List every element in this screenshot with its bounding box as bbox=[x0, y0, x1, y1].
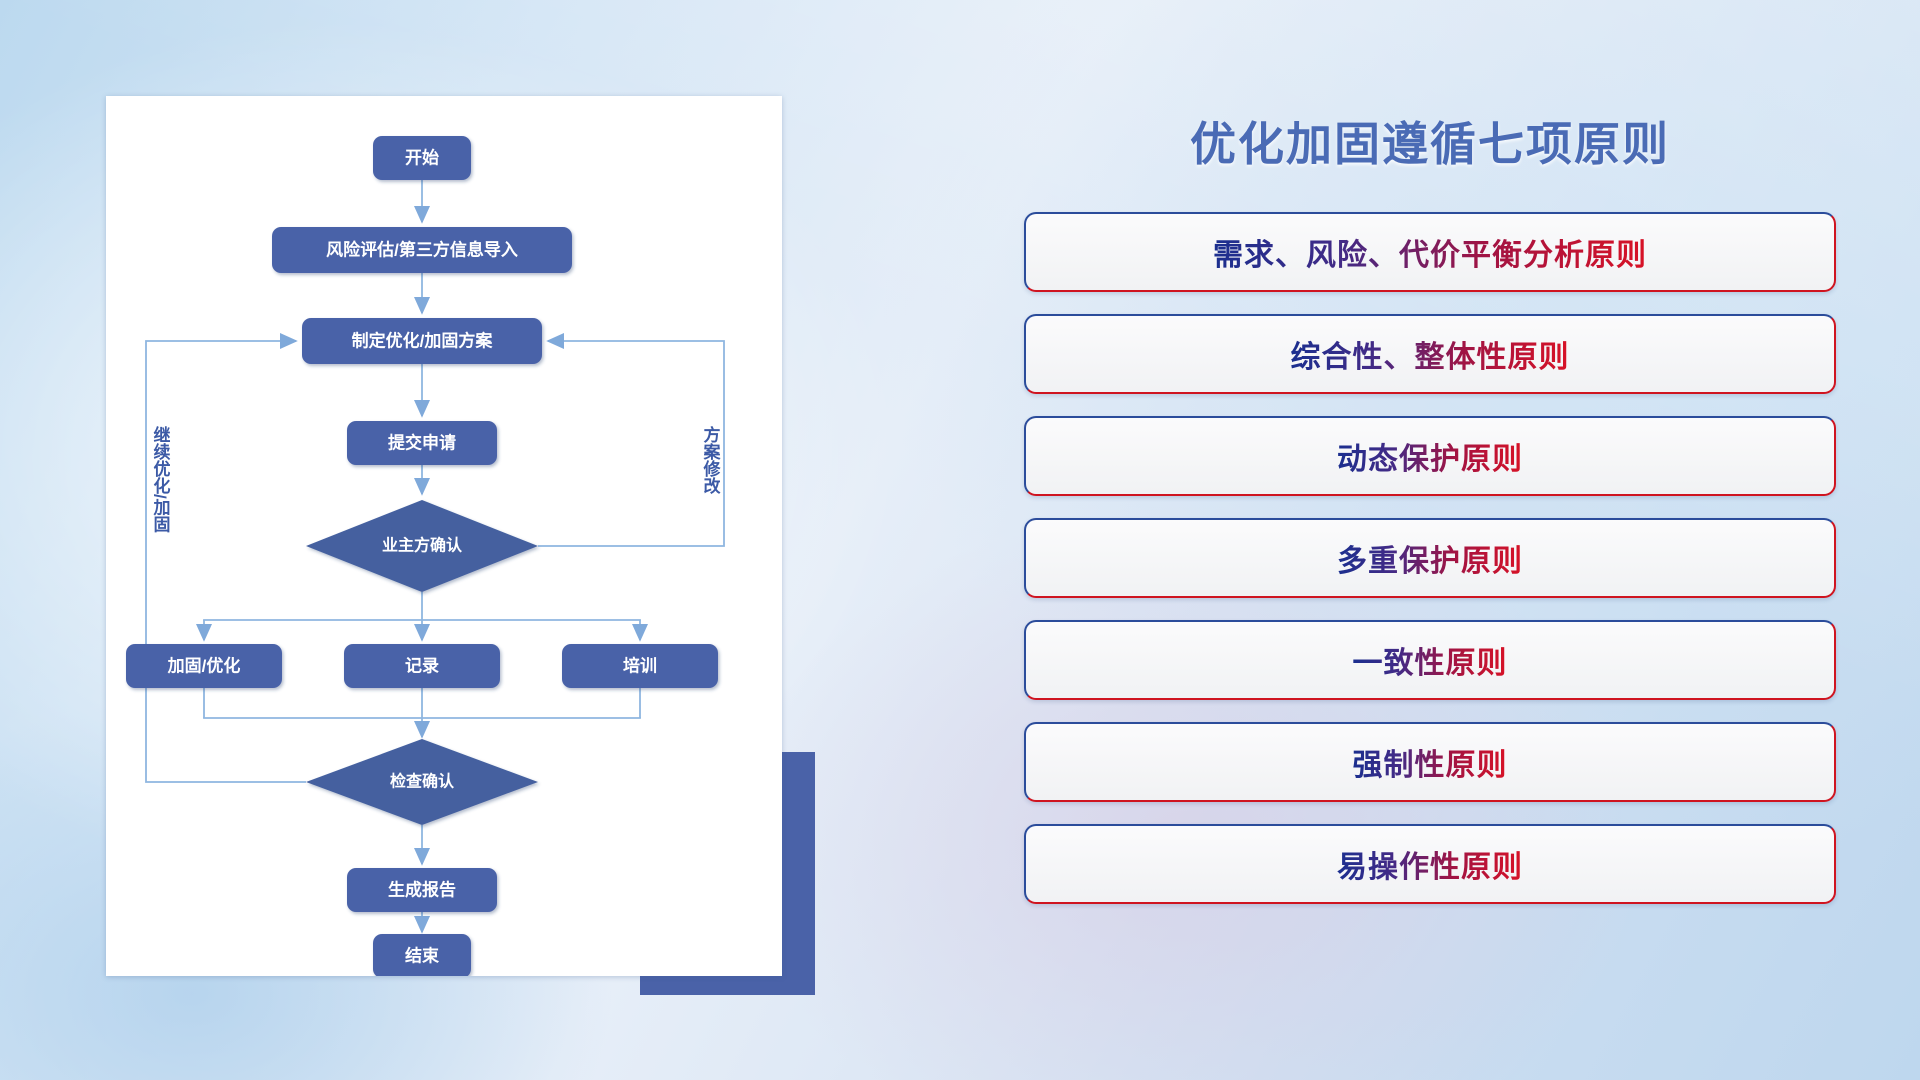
principle-label: 一致性原则 bbox=[1353, 638, 1508, 682]
principle-card-6[interactable]: 强制性原则 bbox=[1024, 722, 1836, 802]
flow-node-check-confirm[interactable]: 检查确认 bbox=[306, 739, 538, 825]
flow-node-end[interactable]: 结束 bbox=[373, 934, 471, 976]
edge-label-plan-revise: 方案修改 bbox=[701, 425, 722, 495]
flow-node-start[interactable]: 开始 bbox=[373, 136, 471, 180]
flow-node-label: 加固/优化 bbox=[167, 656, 241, 676]
principles-panel: 优化加固遵循七项原则 需求、风险、代价平衡分析原则 综合性、整体性原则 动态保护… bbox=[1020, 96, 1840, 996]
flowchart-card: 开始 风险评估/第三方信息导入 制定优化/加固方案 提交申请 业主方确认 加固/… bbox=[106, 96, 782, 976]
principle-card-2[interactable]: 综合性、整体性原则 bbox=[1024, 314, 1836, 394]
principle-card-5[interactable]: 一致性原则 bbox=[1024, 620, 1836, 700]
flow-node-risk-assessment[interactable]: 风险评估/第三方信息导入 bbox=[272, 227, 572, 273]
flow-node-label: 结束 bbox=[405, 946, 439, 966]
principle-label: 强制性原则 bbox=[1353, 740, 1508, 784]
flow-node-label: 培训 bbox=[623, 656, 657, 676]
principle-label: 综合性、整体性原则 bbox=[1291, 332, 1570, 376]
flow-node-plan[interactable]: 制定优化/加固方案 bbox=[302, 318, 542, 364]
flow-node-label: 风险评估/第三方信息导入 bbox=[326, 240, 518, 260]
flow-node-submit[interactable]: 提交申请 bbox=[347, 421, 497, 465]
principle-label: 动态保护原则 bbox=[1337, 434, 1523, 478]
principle-card-3[interactable]: 动态保护原则 bbox=[1024, 416, 1836, 496]
flow-node-label: 业主方确认 bbox=[382, 536, 463, 555]
page-title: 优化加固遵循七项原则 bbox=[1020, 108, 1840, 174]
flow-node-label: 生成报告 bbox=[388, 880, 456, 900]
flow-node-label: 提交申请 bbox=[388, 433, 456, 453]
flow-node-label: 制定优化/加固方案 bbox=[352, 331, 494, 351]
principles-list: 需求、风险、代价平衡分析原则 综合性、整体性原则 动态保护原则 多重保护原则 一… bbox=[1020, 212, 1840, 904]
flow-node-training[interactable]: 培训 bbox=[562, 644, 718, 688]
flow-node-label: 记录 bbox=[405, 657, 439, 676]
principle-card-7[interactable]: 易操作性原则 bbox=[1024, 824, 1836, 904]
flowchart-svg: 开始 风险评估/第三方信息导入 制定优化/加固方案 提交申请 业主方确认 加固/… bbox=[106, 96, 782, 976]
flow-node-label: 检查确认 bbox=[390, 772, 455, 791]
principle-card-1[interactable]: 需求、风险、代价平衡分析原则 bbox=[1024, 212, 1836, 292]
principle-card-4[interactable]: 多重保护原则 bbox=[1024, 518, 1836, 598]
flow-node-owner-confirm[interactable]: 业主方确认 bbox=[306, 500, 538, 592]
flow-node-record[interactable]: 记录 bbox=[344, 644, 500, 688]
flow-node-reinforce[interactable]: 加固/优化 bbox=[126, 644, 282, 688]
principle-label: 多重保护原则 bbox=[1337, 536, 1523, 580]
edge-label-continue-optimize: 继续优化/加固 bbox=[151, 425, 172, 534]
flow-node-label: 开始 bbox=[405, 148, 439, 168]
flow-node-report[interactable]: 生成报告 bbox=[347, 868, 497, 912]
principle-label: 需求、风险、代价平衡分析原则 bbox=[1213, 230, 1647, 274]
principle-label: 易操作性原则 bbox=[1337, 842, 1523, 886]
